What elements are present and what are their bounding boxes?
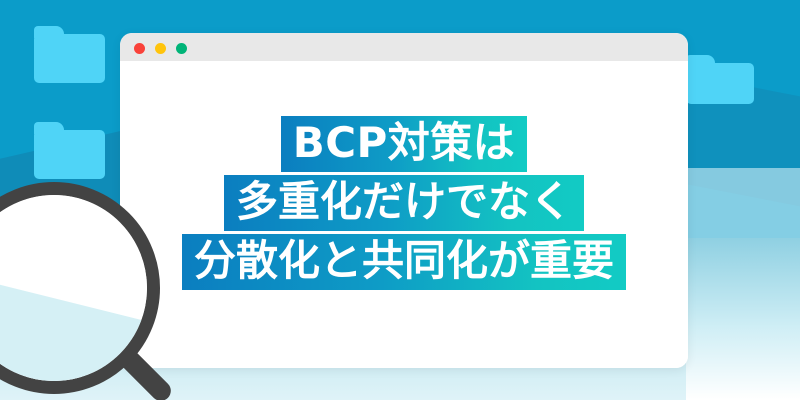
background-lower-right-band [686, 238, 800, 400]
maximize-icon[interactable] [176, 43, 187, 54]
headline-line-2: 多重化だけでなく [224, 175, 584, 231]
folder-icon [34, 122, 105, 179]
magnifying-glass-icon [0, 182, 160, 394]
headline-line-1: BCP対策は [281, 116, 528, 172]
folder-body [34, 130, 105, 179]
magnifier-ring [0, 182, 160, 394]
close-icon[interactable] [134, 43, 145, 54]
headline: BCP対策は 多重化だけでなく 分散化と共同化が重要 [120, 116, 688, 290]
minimize-icon[interactable] [155, 43, 166, 54]
background-cyan-panel [686, 168, 800, 240]
folder-body [686, 63, 754, 104]
browser-viewport: BCP対策は 多重化だけでなく 分散化と共同化が重要 [120, 61, 688, 368]
browser-titlebar [120, 33, 688, 61]
poster-canvas: BCP対策は 多重化だけでなく 分散化と共同化が重要 [0, 0, 800, 400]
folder-body [34, 34, 105, 83]
headline-line-3: 分散化と共同化が重要 [182, 234, 626, 290]
folder-icon [34, 26, 105, 83]
browser-window: BCP対策は 多重化だけでなく 分散化と共同化が重要 [120, 33, 688, 368]
folder-icon [686, 55, 754, 104]
